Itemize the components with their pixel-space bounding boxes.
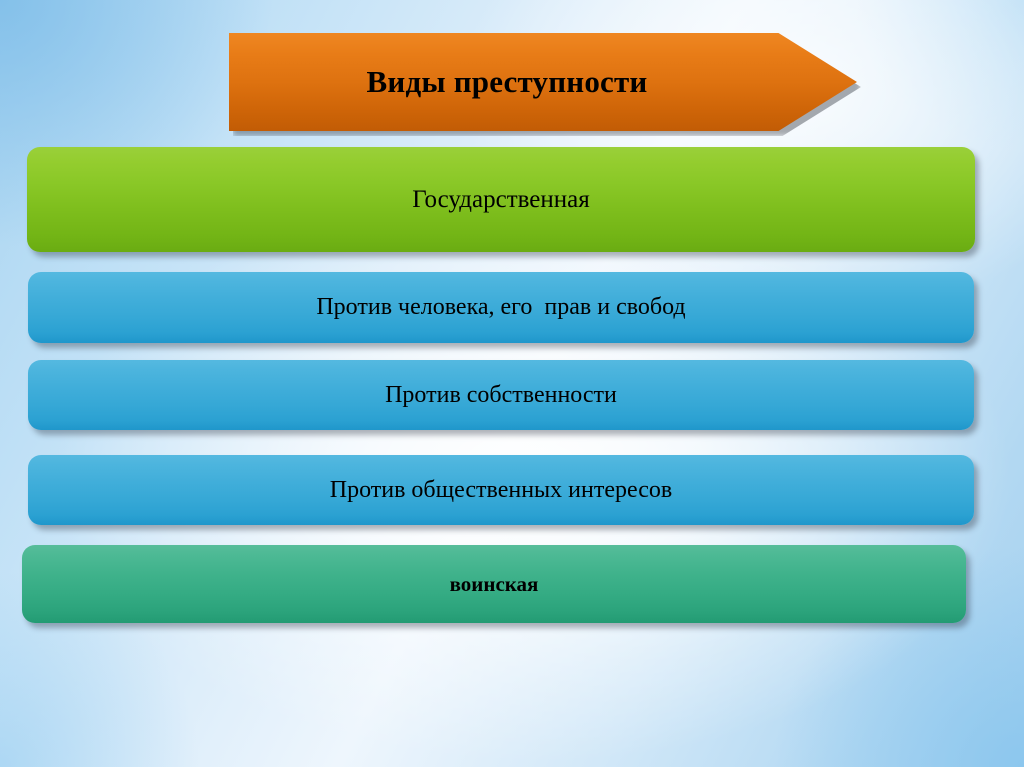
category-bar-label: Против человека, его прав и свобод xyxy=(316,294,685,321)
slide-title: Виды преступности xyxy=(367,64,648,100)
category-bar-label: Против общественных интересов xyxy=(330,477,672,504)
category-bar-label: воинская xyxy=(450,572,539,597)
category-bar-against-person[interactable]: Против человека, его прав и свобод xyxy=(28,272,974,343)
category-bar-against-property[interactable]: Против собственности xyxy=(28,360,974,430)
category-bar-against-public-interests[interactable]: Против общественных интересов xyxy=(28,455,974,525)
category-bar-label: Против собственности xyxy=(385,382,617,409)
category-bar-label: Государственная xyxy=(412,186,590,214)
title-arrow-banner: Виды преступности xyxy=(229,33,857,131)
category-bar-state[interactable]: Государственная xyxy=(27,147,975,252)
category-bar-military[interactable]: воинская xyxy=(22,545,966,623)
presentation-slide: Виды преступности Государственная Против… xyxy=(0,0,1024,767)
